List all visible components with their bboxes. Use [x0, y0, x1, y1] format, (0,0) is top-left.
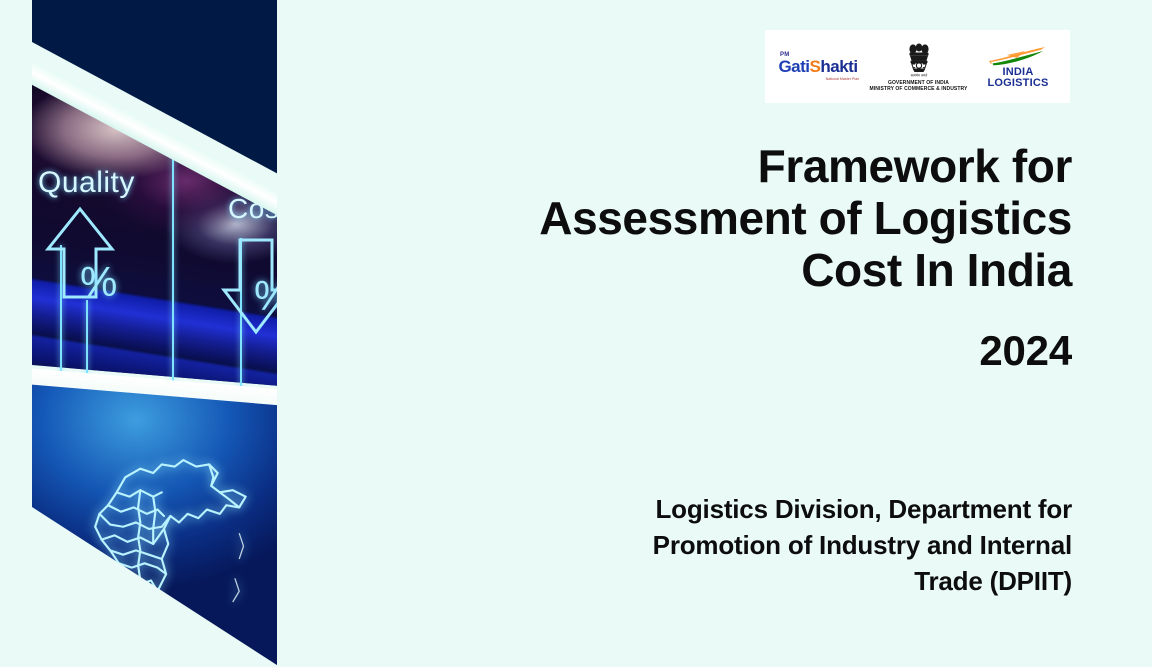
gatishakti-gati-text: Gati — [778, 57, 809, 76]
title-line-1: Framework for — [440, 140, 1072, 192]
organisation-line-1: Logistics Division, Department for — [440, 491, 1072, 527]
quality-cost-overlay: Quality % Cost % — [32, 0, 280, 430]
organisation-line-3: Trade (DPIIT) — [440, 563, 1072, 599]
overlay-vertical-line — [172, 150, 174, 410]
pm-gatishakti-logo: PM GatiShakti National Master Plan — [775, 52, 861, 81]
emblem-motto: सत्यमेव जयते — [910, 72, 927, 77]
organisation-line-2: Promotion of Industry and Internal — [440, 527, 1072, 563]
gatishakti-wordmark: GatiShakti — [778, 58, 857, 75]
gatishakti-hakti-text: hakti — [820, 57, 857, 76]
title-line-3: Cost In India — [440, 244, 1072, 296]
report-cover: Quality % Cost % — [0, 0, 1152, 667]
government-of-india-emblem: सत्यमेव जयते GOVERNMENT OF INDIA MINISTR… — [864, 42, 974, 92]
cover-artwork-panel: Quality % Cost % — [32, 0, 280, 667]
tricolor-swoosh-icon — [987, 45, 1049, 67]
title-line-2: Assessment of Logistics — [440, 192, 1072, 244]
publishing-organisation: Logistics Division, Department for Promo… — [440, 491, 1072, 599]
artwork-right-edge — [277, 0, 280, 667]
gatishakti-subtitle: National Master Plan — [826, 76, 859, 81]
india-logistics-line-1: INDIA — [1003, 67, 1034, 78]
logo-strip: PM GatiShakti National Master Plan — [765, 30, 1070, 103]
page-title: Framework for Assessment of Logistics Co… — [440, 140, 1072, 296]
quality-label: Quality — [38, 166, 135, 200]
emblem-line-2: MINISTRY OF COMMERCE & INDUSTRY — [870, 86, 968, 92]
quality-percent-label: % — [80, 258, 117, 306]
gatishakti-s-glyph: S — [810, 57, 821, 76]
india-logistics-line-2: LOGISTICS — [987, 78, 1048, 89]
publication-year: 2024 — [440, 327, 1072, 375]
india-logistics-logo: INDIA LOGISTICS — [976, 45, 1060, 89]
ashoka-lion-capital-icon: सत्यमेव जयते — [904, 42, 934, 80]
